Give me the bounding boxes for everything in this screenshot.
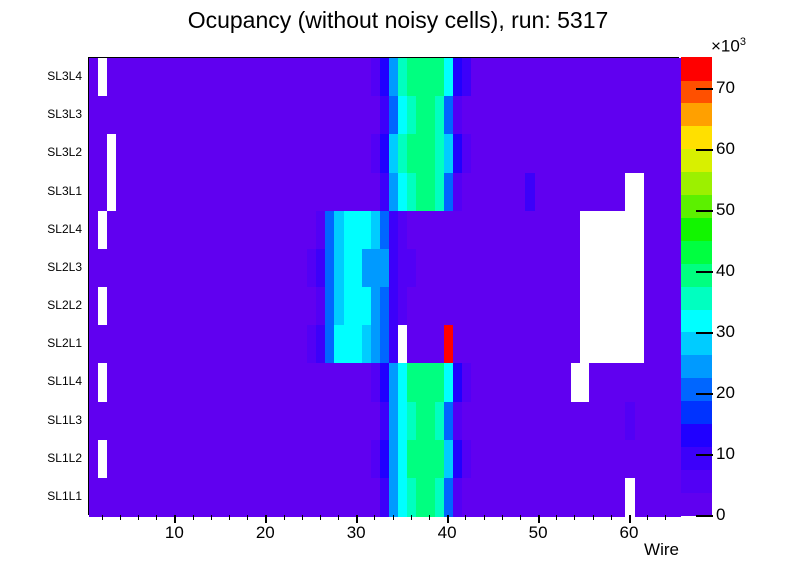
x-axis-minor-tick [465,515,466,520]
colorbar-band [681,309,712,333]
x-axis-minor-tick [411,515,412,520]
x-axis-minor-tick [520,515,521,520]
x-axis-minor-tick [556,515,557,520]
colorbar-tick [696,515,713,517]
y-axis-label: SL3L4 [24,70,82,82]
colorbar-band [681,355,712,379]
x-axis-minor-tick [611,515,612,520]
colorbar-tick-label: 30 [716,323,735,340]
y-axis-label: SL2L3 [24,261,82,273]
colorbar-band [681,103,712,127]
colorbar-multiplier: ×103 [711,33,746,56]
x-axis-minor-tick [193,515,194,520]
colorbar-tick [696,88,713,90]
heatmap-cell [671,325,681,364]
heatmap-cell [671,440,681,479]
colorbar-band [681,263,712,287]
colorbar-tick-label: 70 [716,79,735,96]
x-axis-tick [447,515,449,523]
colorbar-band [681,194,712,218]
x-axis-tick [629,515,631,523]
colorbar-band [681,492,712,516]
colorbar-band [681,172,712,196]
heatmap-cell [671,249,681,288]
heatmap-cell [671,402,681,441]
colorbar-tick-label: 20 [716,384,735,401]
colorbar-tick-label: 50 [716,201,735,218]
colorbar-tick [696,393,713,395]
colorbar-tick-label: 40 [716,262,735,279]
colorbar-band [681,446,712,470]
x-axis-minor-tick [393,515,394,520]
heatmap-cell [671,363,681,402]
colorbar-tick [696,271,713,273]
colorbar-band [681,378,712,402]
y-axis-label: SL1L4 [24,375,82,387]
heatmap-cell [671,211,681,250]
x-axis-minor-tick [320,515,321,520]
x-axis-minor-tick [120,515,121,520]
x-axis-tick [538,515,540,523]
x-axis-minor-tick [102,515,103,520]
x-axis-minor-tick [665,515,666,520]
y-axis-label: SL2L1 [24,337,82,349]
x-axis-minor-tick [302,515,303,520]
colorbar-band [681,217,712,241]
colorbar-tick [696,149,713,151]
colorbar-tick-label: 0 [716,506,725,523]
heatmap-cell [671,173,681,212]
x-axis-tick [356,515,358,523]
colorbar-band [681,149,712,173]
colorbar-band [681,126,712,150]
heatmap-cell [671,478,681,517]
colorbar[interactable] [681,57,712,515]
y-axis-label: SL3L3 [24,108,82,120]
heatmap-cell [671,134,681,173]
colorbar-band [681,469,712,493]
x-axis-minor-tick [574,515,575,520]
colorbar-tick [696,332,713,334]
y-axis-labels: SL3L4SL3L3SL3L2SL3L1SL2L4SL2L3SL2L2SL2L1… [22,57,82,515]
colorbar-band [681,401,712,425]
x-axis-title: Wire [0,540,679,559]
colorbar-band [681,423,712,447]
x-axis-minor-tick [229,515,230,520]
heatmap-cells[interactable] [89,58,678,514]
x-axis-minor-tick [502,515,503,520]
colorbar-band [681,240,712,264]
colorbar-tick-label: 60 [716,140,735,157]
colorbar-band [681,332,712,356]
y-axis-label: SL1L2 [24,452,82,464]
x-axis-minor-tick [429,515,430,520]
x-axis-minor-tick [211,515,212,520]
x-axis-minor-tick [138,515,139,520]
y-axis-label: SL2L2 [24,299,82,311]
colorbar-tick [696,454,713,456]
x-axis-minor-tick [484,515,485,520]
x-axis-minor-tick [284,515,285,520]
x-axis-minor-tick [374,515,375,520]
page-title: Ocupancy (without noisy cells), run: 531… [0,6,796,34]
colorbar-band [681,286,712,310]
colorbar-band [681,80,712,104]
heatmap-cell [671,96,681,135]
y-axis-label: SL1L3 [24,414,82,426]
root-canvas: Ocupancy (without noisy cells), run: 531… [0,0,796,572]
x-axis-tick [265,515,267,523]
heatmap-cell [671,58,681,97]
x-axis-tick [174,515,176,523]
x-axis-minor-tick [156,515,157,520]
x-axis-minor-tick [647,515,648,520]
y-axis-label: SL1L1 [24,490,82,502]
y-axis-label: SL2L4 [24,223,82,235]
colorbar-tick [696,210,713,212]
x-axis-minor-tick [247,515,248,520]
y-axis-label: SL3L2 [24,146,82,158]
y-axis-label: SL3L1 [24,185,82,197]
x-axis-minor-tick [593,515,594,520]
plot-frame[interactable] [88,57,679,515]
heatmap-cell [671,287,681,326]
colorbar-band [681,57,712,81]
x-axis-minor-tick [338,515,339,520]
colorbar-tick-label: 10 [716,445,735,462]
